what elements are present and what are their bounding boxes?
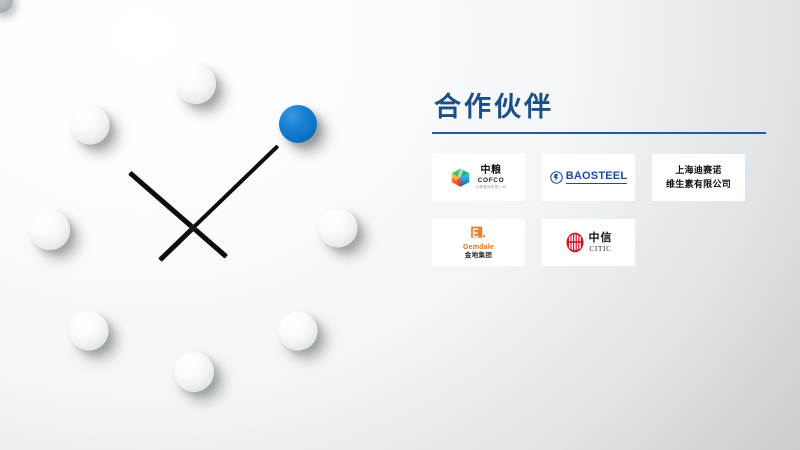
clock-marker-3 [319,209,358,248]
citic-emblem-icon [565,232,585,253]
clock-center-pin [190,225,197,232]
clock-marker-6 [174,352,214,392]
gemdale-cn-label: 金地集团 [465,253,493,260]
clock-marker-12 [176,64,216,104]
clock-center-hub [0,0,13,13]
page-title: 合作伙伴 [434,92,772,123]
baosteel-emblem-icon [550,171,563,184]
partner-card-cofco[interactable]: 中粮 COFCO 中粮集团有限公司 [432,154,525,201]
partner-logo-grid: 中粮 COFCO 中粮集团有限公司 BAOSTEEL [432,154,772,266]
citic-en-label: CITIC [589,246,611,253]
clock-marker-10-30 [71,106,110,145]
cofco-cube-icon [450,167,471,188]
partner-card-citic[interactable]: 中信 CITIC [542,219,635,266]
clock-minute-hand [192,145,280,230]
gemdale-square-icon [470,226,486,241]
title-underline-rule [432,132,766,134]
partners-panel: 合作伙伴 [432,92,772,266]
clock-hour-hand-tail [191,226,228,259]
clock-marker-7-30 [70,312,109,351]
partner-card-baosteel[interactable]: BAOSTEEL [542,154,635,201]
clock-marker-9 [30,210,70,250]
clock-minute-hand-tail [158,226,195,262]
wall-clock-illustration [0,0,400,450]
disino-line-2: 维生素有限公司 [666,178,731,192]
clock-marker-1-30-accent [279,105,317,143]
partner-card-disino[interactable]: 上海迪赛诺 维生素有限公司 [652,154,745,201]
slide-canvas: 合作伙伴 [0,0,800,450]
baosteel-wordmark: BAOSTEEL [566,171,628,184]
partner-card-gemdale[interactable]: Gemdale 金地集团 [432,219,525,266]
clock-hour-hand [128,171,194,230]
citic-cn-label: 中信 [589,233,613,244]
cofco-cn-label: 中粮 [481,166,502,176]
cofco-en-label: COFCO [478,178,504,185]
disino-line-1: 上海迪赛诺 [666,164,731,178]
clock-marker-4-30 [279,312,318,351]
cofco-sub-label: 中粮集团有限公司 [475,186,506,189]
gemdale-en-label: Gemdale [463,244,494,251]
